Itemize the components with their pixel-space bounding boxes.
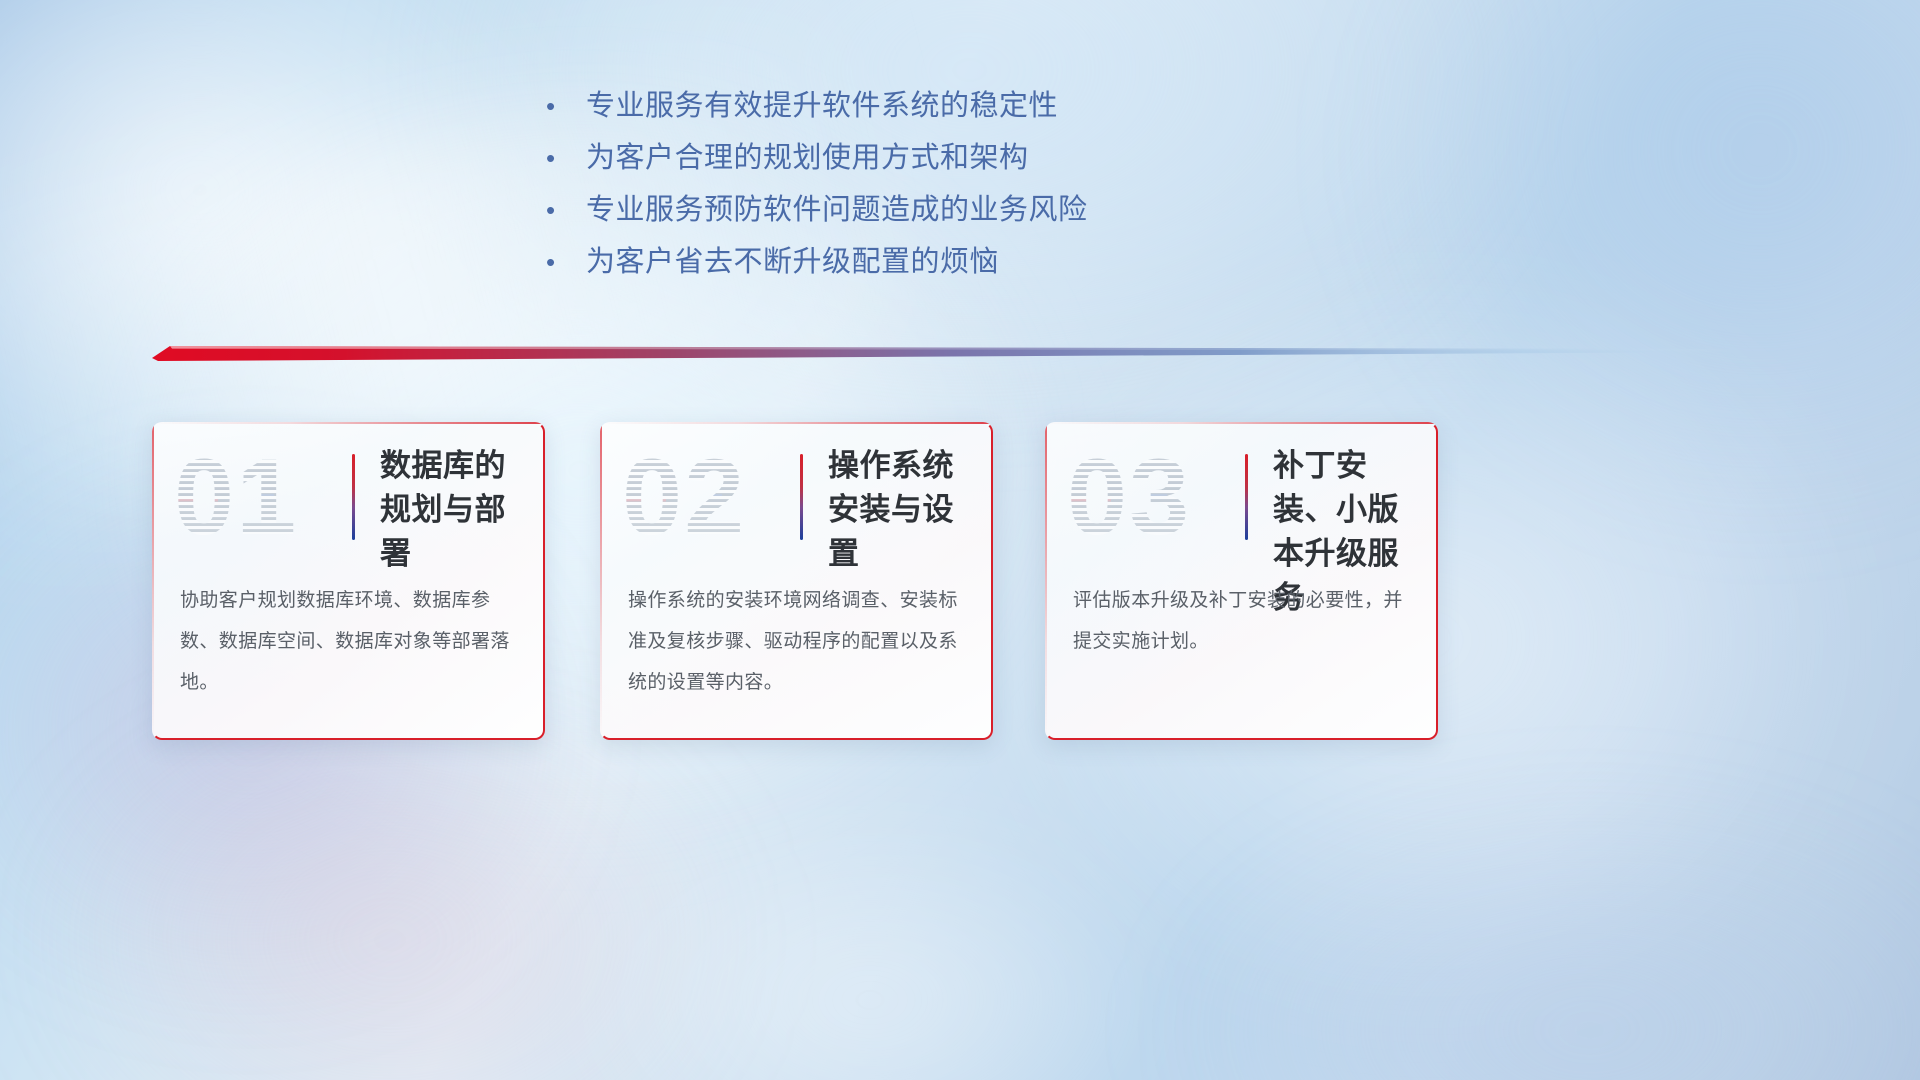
card-ghost-number: 02: [618, 436, 778, 556]
card-header: 01: [152, 422, 545, 570]
bullet-item: • 专业服务有效提升软件系统的稳定性: [540, 86, 1300, 138]
bullet-label: 为客户合理的规划使用方式和架构: [586, 138, 1029, 178]
card-title-divider: [352, 454, 355, 540]
benefits-bullet-list: • 专业服务有效提升软件系统的稳定性 • 为客户合理的规划使用方式和架构 • 专…: [540, 86, 1300, 294]
bullet-item: • 为客户省去不断升级配置的烦恼: [540, 242, 1300, 294]
bullet-dot-icon: •: [540, 138, 586, 178]
card-title: 操作系统安装与设置: [828, 444, 980, 576]
bullet-item: • 为客户合理的规划使用方式和架构: [540, 138, 1300, 190]
service-card-list: 01: [152, 422, 1802, 752]
bullet-dot-icon: •: [540, 190, 586, 230]
card-title: 数据库的规划与部署: [380, 444, 532, 576]
bullet-label: 专业服务预防软件问题造成的业务风险: [586, 190, 1088, 230]
service-card[interactable]: 01: [152, 422, 545, 740]
card-description: 评估版本升级及补丁安装的必要性，并提交实施计划。: [1073, 580, 1411, 662]
bullet-label: 为客户省去不断升级配置的烦恼: [586, 242, 999, 282]
card-description: 协助客户规划数据库环境、数据库参数、数据库空间、数据库对象等部署落地。: [180, 580, 518, 703]
card-ghost-number: 01: [170, 436, 330, 556]
service-card[interactable]: 03: [1045, 422, 1438, 740]
card-header: 03: [1045, 422, 1438, 570]
card-title-divider: [1245, 454, 1248, 540]
card-header: 02: [600, 422, 993, 570]
card-title-divider: [800, 454, 803, 540]
section-divider: [152, 340, 1752, 366]
card-ghost-number: 03: [1063, 436, 1223, 556]
slide-canvas: • 专业服务有效提升软件系统的稳定性 • 为客户合理的规划使用方式和架构 • 专…: [0, 0, 1920, 1080]
service-card[interactable]: 02: [600, 422, 993, 740]
bullet-label: 专业服务有效提升软件系统的稳定性: [586, 86, 1058, 126]
card-description: 操作系统的安装环境网络调查、安装标准及复核步骤、驱动程序的配置以及系统的设置等内…: [628, 580, 966, 703]
bullet-dot-icon: •: [540, 242, 586, 282]
bullet-item: • 专业服务预防软件问题造成的业务风险: [540, 190, 1300, 242]
bullet-dot-icon: •: [540, 86, 586, 126]
